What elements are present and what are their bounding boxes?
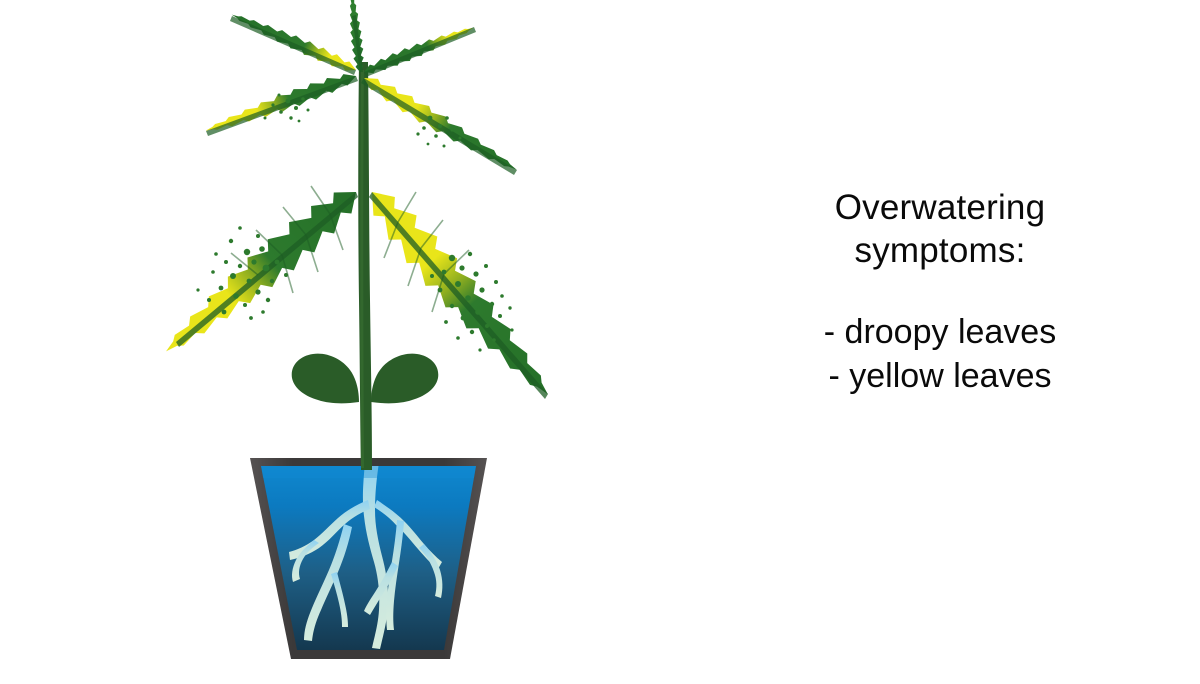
plant-pot-group: [250, 458, 487, 659]
plant-svg: [0, 0, 680, 679]
overwatered-plant-illustration: [0, 0, 680, 679]
lower-leaf-whorl: [153, 176, 564, 408]
caption-panel: Overwatering symptoms: - droopy leaves -…: [680, 0, 1200, 679]
symptom-item-yellow-leaves: - yellow leaves: [680, 354, 1200, 398]
cotyledon-left: [292, 354, 359, 404]
upper-leaflet-left-lower-midrib: [206, 76, 358, 136]
cotyledon-right: [371, 354, 438, 404]
symptom-list: - droopy leaves - yellow leaves: [680, 310, 1200, 398]
symptom-item-droopy-leaves: - droopy leaves: [680, 310, 1200, 354]
illustration-canvas: Overwatering symptoms: - droopy leaves -…: [0, 0, 1200, 679]
upper-leaflet-left-upper-midrib: [230, 16, 356, 75]
upper-leaflet-right-upper-midrib: [364, 27, 476, 77]
caption-title: Overwatering symptoms:: [680, 186, 1200, 272]
caption-block: Overwatering symptoms: - droopy leaves -…: [680, 186, 1200, 398]
